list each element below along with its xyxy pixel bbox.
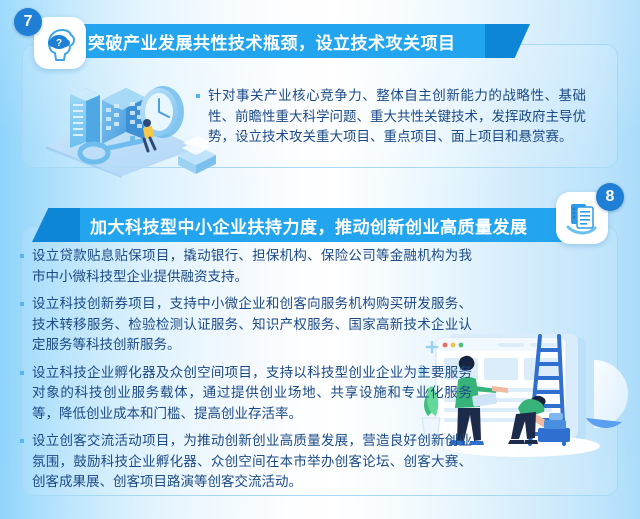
section-8-title-bar: 加大科技型中小企业扶持力度，推动创新创业高质量发展 — [32, 208, 562, 242]
section-7-title: 突破产业发展共性技术瓶颈，设立技术攻关项目 — [88, 29, 456, 54]
section-8-bullet-list: 设立贷款贴息贴保项目，撬动银行、担保机构、保险公司等金融机构为我市中小微科技型企… — [20, 246, 472, 500]
title-bar-tail — [485, 24, 530, 58]
document-hand-icon — [564, 200, 600, 236]
section-8-number-badge: 8 — [596, 183, 624, 211]
brain-question-icon: ? — [41, 24, 79, 62]
infographic-page: 突破产业发展共性技术瓶颈，设立技术攻关项目 ? 7 针对事关产业核心竞争力、整体… — [0, 0, 640, 519]
section-7-number-badge: 7 — [14, 8, 42, 36]
section-8-title: 加大科技型中小企业扶持力度，推动创新创业高质量发展 — [90, 213, 528, 238]
list-item: 设立贷款贴息贴保项目，撬动银行、担保机构、保险公司等金融机构为我市中小微科技型企… — [20, 246, 472, 287]
list-item: 针对事关产业核心竞争力、整体自主创新能力的战略性、基础性、前瞻性重大科学问题、重… — [196, 86, 586, 148]
svg-text:?: ? — [56, 38, 62, 49]
section-7-title-bar: 突破产业发展共性技术瓶颈，设立技术攻关项目 — [60, 24, 530, 58]
list-item: 设立科技创新券项目，支持中小微企业和创客向服务机构购买研发服务、技术转移服务、检… — [20, 294, 472, 356]
section-7-bullet-list: 针对事关产业核心竞争力、整体自主创新能力的战略性、基础性、前瞻性重大科学问题、重… — [196, 86, 586, 148]
title-bar-tail — [32, 208, 80, 242]
section-7: 突破产业发展共性技术瓶颈，设立技术攻关项目 ? 7 针对事关产业核心竞争力、整体… — [0, 0, 640, 182]
list-item: 设立科技企业孵化器及众创空间项目，支持以科技型创业企业为主要服务对象的科技创业服… — [20, 363, 472, 425]
section-7-icon-tile: ? — [34, 17, 86, 69]
list-item: 设立创客交流活动项目，为推动创新创业高质量发展，营造良好创新创业氛围，鼓励科技企… — [20, 431, 472, 493]
